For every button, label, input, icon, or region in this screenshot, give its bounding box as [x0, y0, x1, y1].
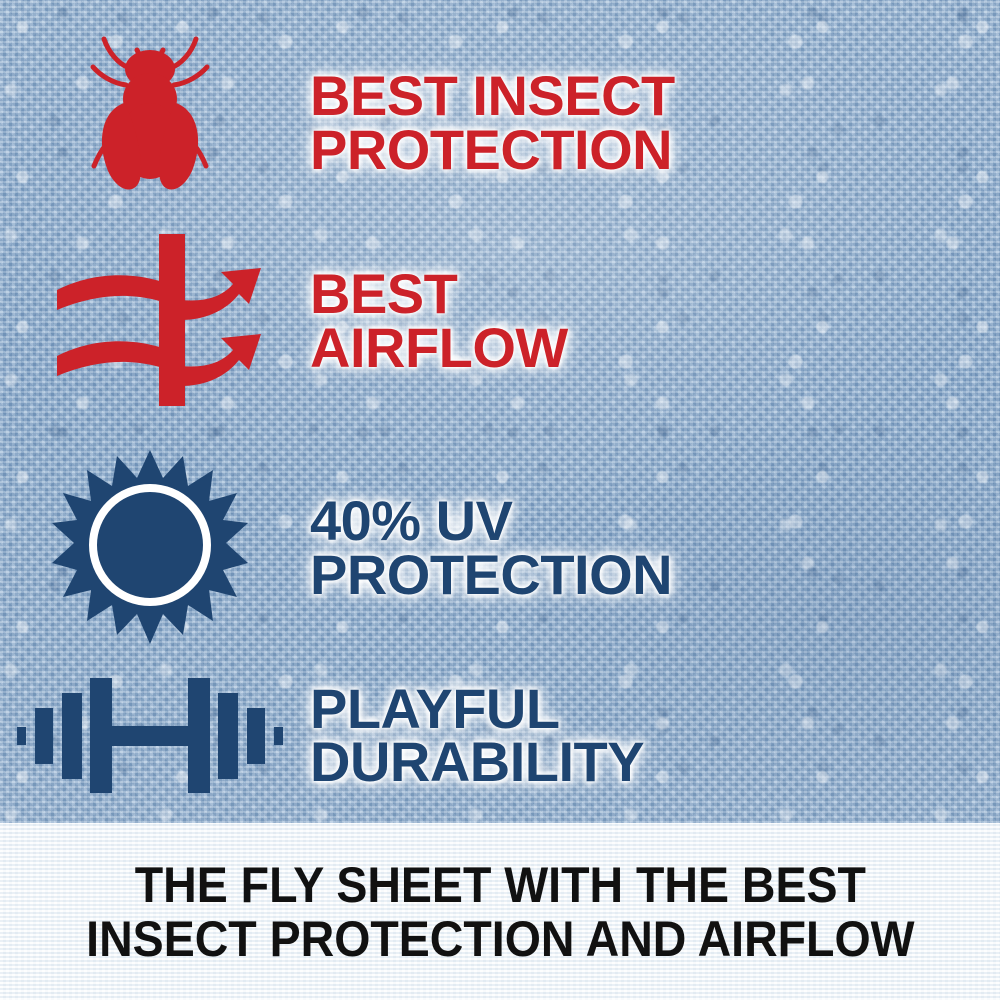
feature-label-airflow: BEST AIRFLOW	[310, 267, 568, 373]
fly-icon	[80, 33, 220, 213]
feature-icon-cell	[0, 228, 300, 413]
feature-text-cell: 40% UV PROTECTION	[300, 494, 672, 600]
feature-row-durability: PLAYFUL DURABILITY	[0, 655, 644, 815]
product-feature-poster: BEST INSECT PROTECTION BEST AIRFLOW	[0, 0, 1000, 1000]
feature-label-insect-protection: BEST INSECT PROTECTION	[310, 69, 675, 175]
feature-row-airflow: BEST AIRFLOW	[0, 228, 568, 413]
dumbbell-icon	[15, 670, 285, 800]
feature-icon-cell	[0, 670, 300, 800]
airflow-arrows-icon	[35, 228, 265, 413]
feature-row-uv-protection: 40% UV PROTECTION	[0, 440, 672, 655]
bottom-banner: THE FLY SHEET WITH THE BEST INSECT PROTE…	[0, 823, 1000, 1000]
sun-icon	[50, 448, 250, 648]
feature-label-uv-protection: 40% UV PROTECTION	[310, 494, 672, 600]
feature-label-durability: PLAYFUL DURABILITY	[310, 682, 644, 788]
feature-icon-cell	[0, 33, 300, 213]
feature-list: BEST INSECT PROTECTION BEST AIRFLOW	[0, 0, 1000, 823]
feature-icon-cell	[0, 448, 300, 648]
feature-text-cell: BEST AIRFLOW	[300, 267, 568, 373]
feature-text-cell: PLAYFUL DURABILITY	[300, 682, 644, 788]
feature-row-insect-protection: BEST INSECT PROTECTION	[0, 30, 675, 215]
banner-headline: THE FLY SHEET WITH THE BEST INSECT PROTE…	[73, 858, 927, 966]
feature-text-cell: BEST INSECT PROTECTION	[300, 69, 675, 175]
